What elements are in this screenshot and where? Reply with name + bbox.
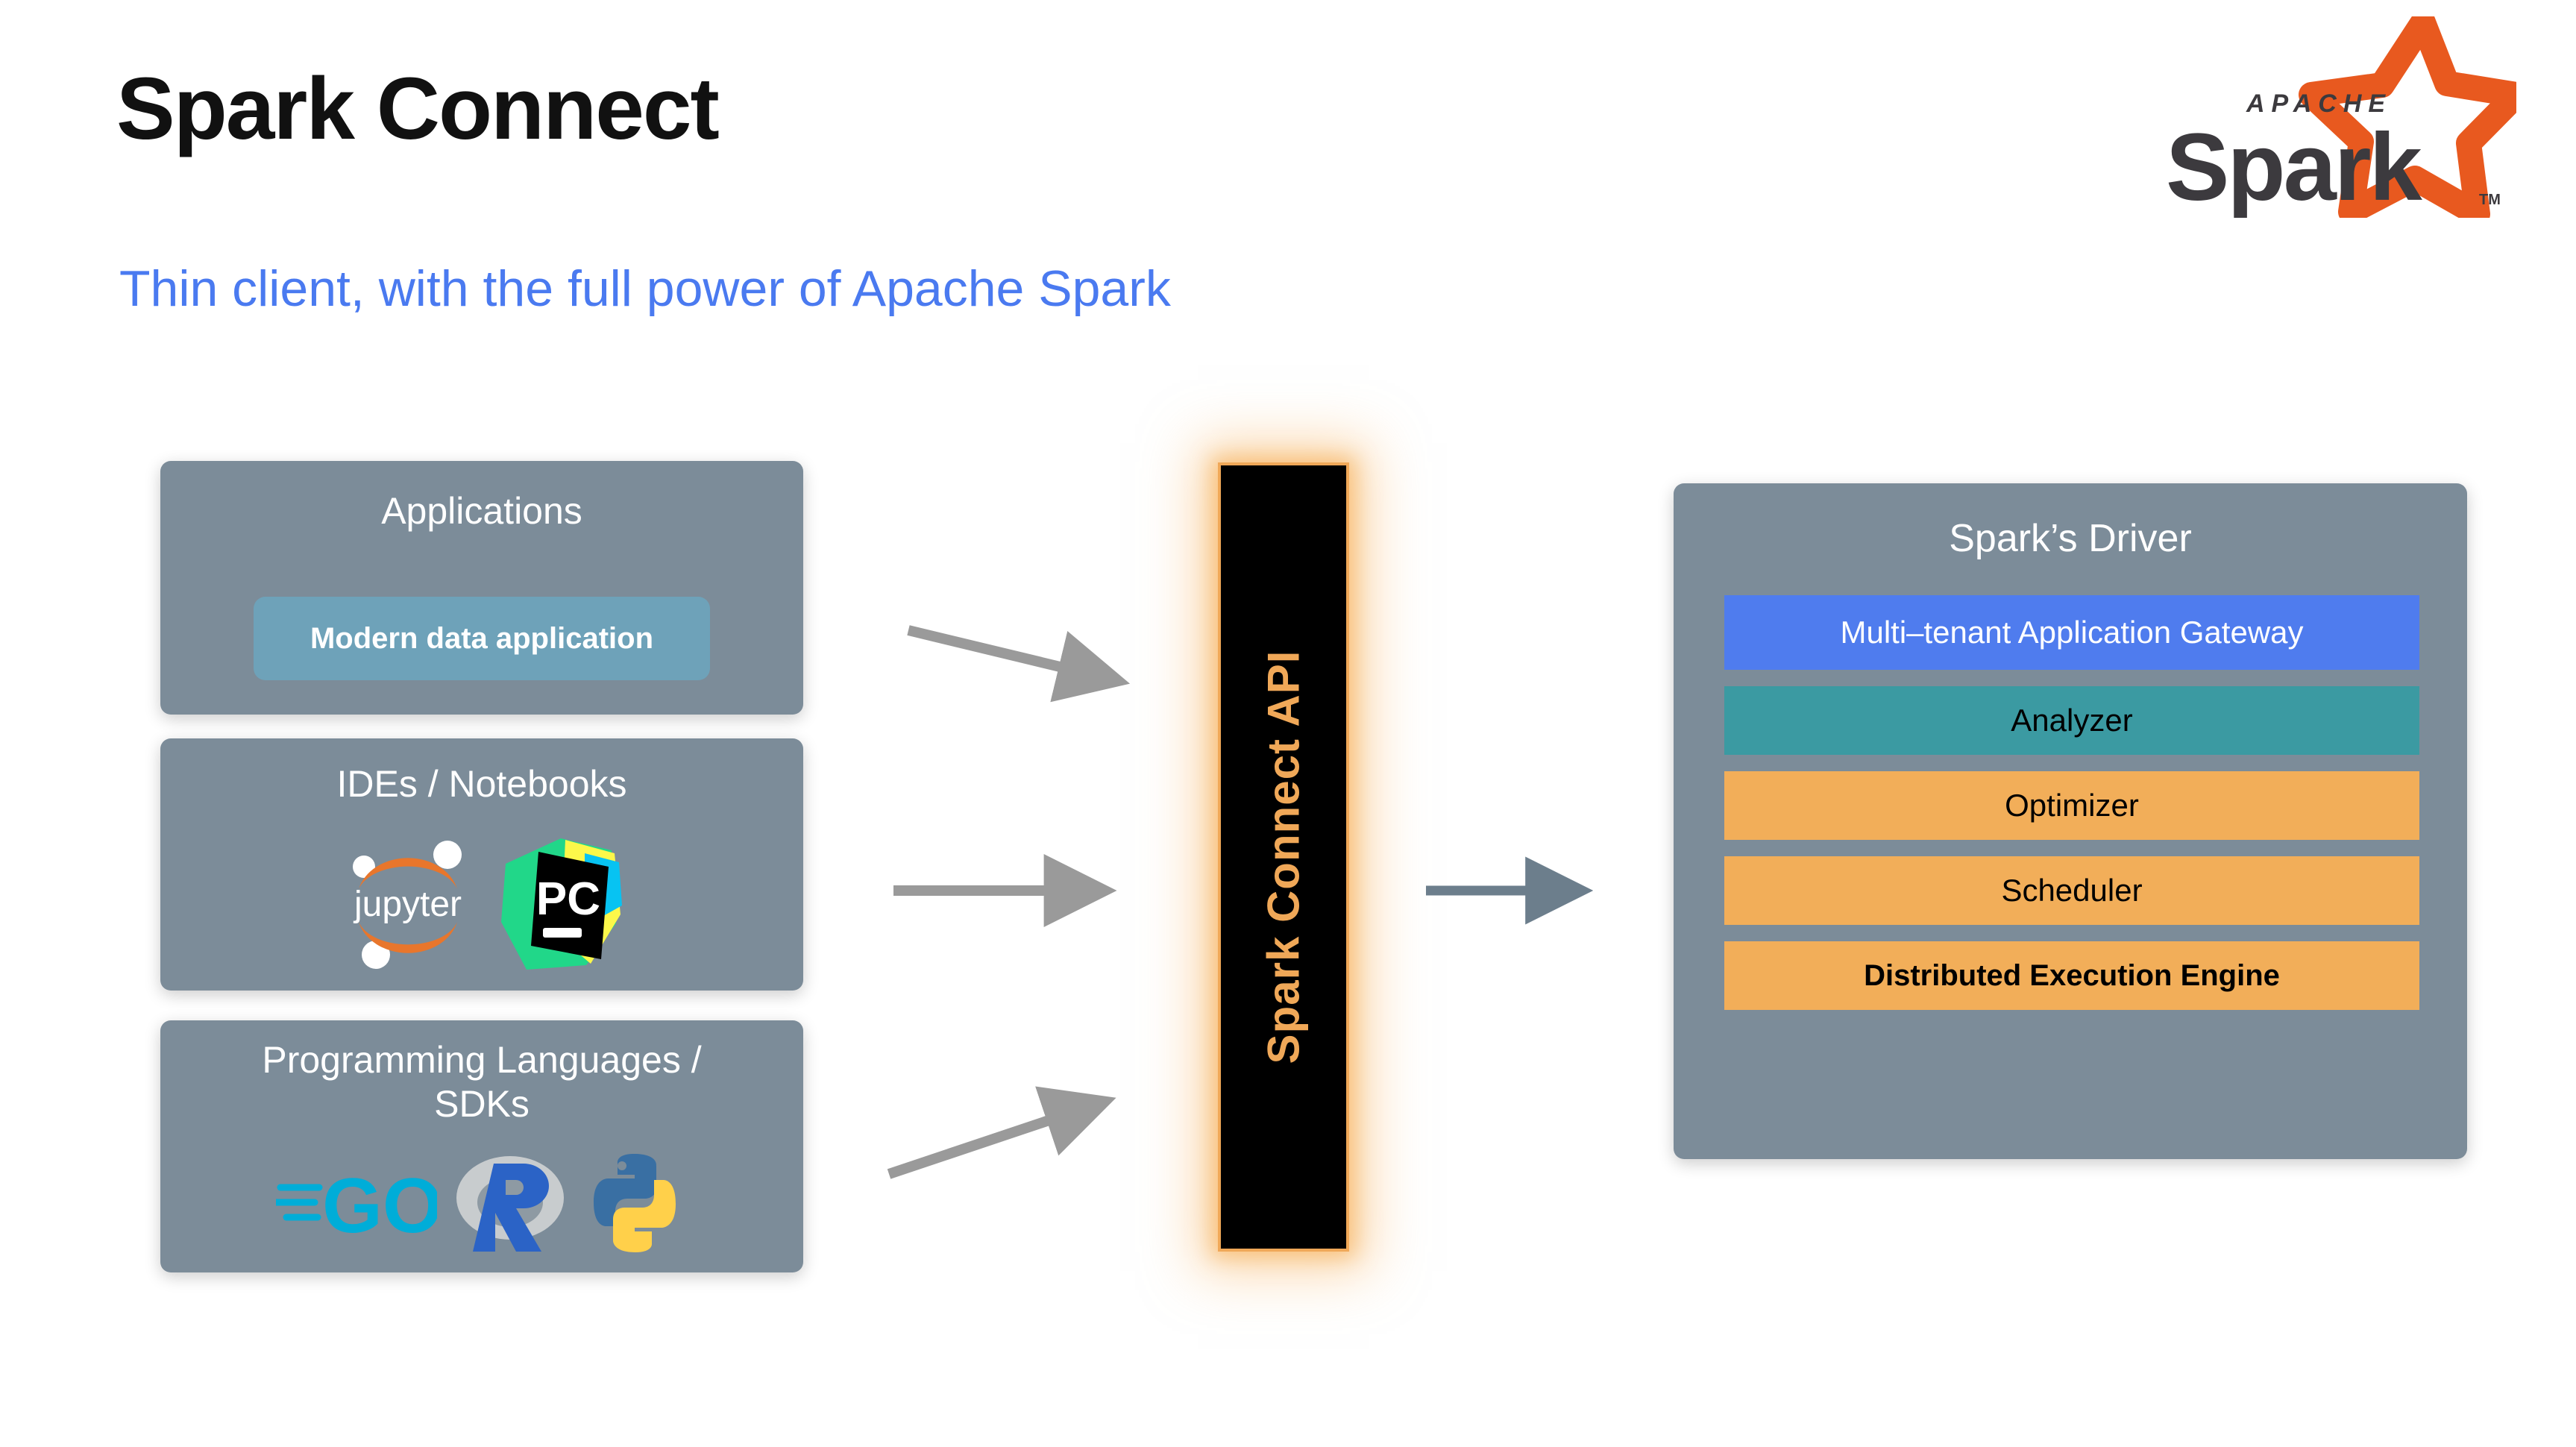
card-title-line1: Programming Languages /: [262, 1039, 701, 1081]
card-title-line2: SDKs: [434, 1083, 530, 1125]
r-logo: [450, 1147, 570, 1263]
page-subtitle: Thin client, with the full power of Apac…: [119, 260, 1171, 318]
pycharm-underscore-icon: [543, 928, 582, 938]
apache-spark-logo-svg: APACHE Spark TM: [2158, 16, 2516, 218]
sparks-driver-title: Spark’s Driver: [1674, 516, 2467, 561]
client-card-applications[interactable]: Applications Modern data application: [160, 461, 803, 715]
driver-layer-distributed-execution-engine[interactable]: Distributed Execution Engine: [1724, 941, 2419, 1010]
arrow-applications-to-connect: [908, 630, 1116, 680]
go-speed-lines-icon: [276, 1187, 319, 1217]
client-card-ides-notebooks[interactable]: IDEs / Notebooks jupyter PC: [160, 738, 803, 991]
spark-word: Spark: [2166, 114, 2423, 218]
jupyter-wordmark: jupyter: [353, 885, 462, 924]
arrow-languages-to-connect: [889, 1102, 1102, 1174]
sparks-driver-card[interactable]: Spark’s Driver Multi–tenant Application …: [1674, 483, 2467, 1159]
driver-layer-multi-tenant-application-gateway[interactable]: Multi–tenant Application Gateway: [1724, 595, 2419, 670]
card-title-ides-notebooks: IDEs / Notebooks: [160, 762, 803, 806]
page-title: Spark Connect: [116, 58, 718, 160]
jupyter-logo: jupyter: [339, 834, 477, 976]
python-logo: [583, 1151, 688, 1259]
driver-layer-analyzer[interactable]: Analyzer: [1724, 686, 2419, 755]
jupyter-dot-top: [433, 841, 462, 869]
driver-layer-optimizer[interactable]: Optimizer: [1724, 771, 2419, 840]
card-title-applications: Applications: [160, 489, 803, 533]
spark-connect-api-label: Spark Connect API: [1258, 650, 1310, 1064]
trademark-mark: TM: [2479, 192, 2501, 208]
go-logo: GO: [276, 1155, 437, 1255]
spark-connect-api-bar[interactable]: Spark Connect API: [1218, 462, 1349, 1252]
apache-spark-logo: APACHE Spark TM: [2158, 16, 2516, 218]
pycharm-logo: PC: [497, 834, 625, 976]
pycharm-wordmark: PC: [536, 873, 600, 925]
modern-data-application-box[interactable]: Modern data application: [254, 597, 710, 680]
card-title-programming-languages: Programming Languages / SDKs: [160, 1038, 803, 1126]
driver-layer-scheduler[interactable]: Scheduler: [1724, 856, 2419, 925]
client-card-programming-languages[interactable]: Programming Languages / SDKs GO: [160, 1020, 803, 1272]
go-wordmark: GO: [322, 1163, 437, 1249]
